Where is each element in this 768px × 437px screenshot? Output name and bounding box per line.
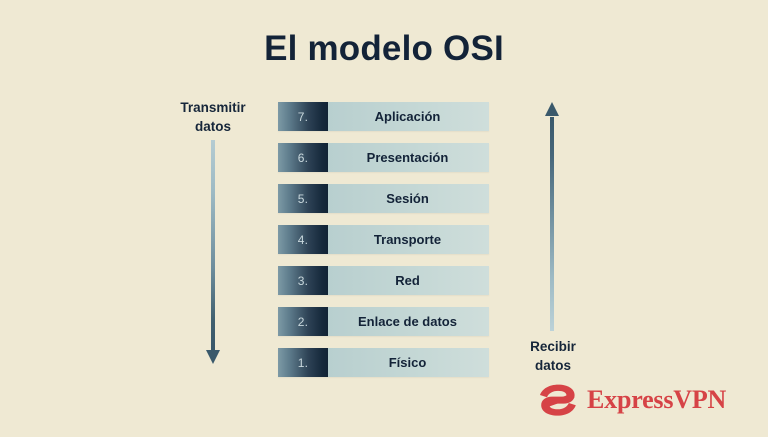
receive-label-line-1: Recibir (497, 337, 609, 356)
receive-arrow-head (545, 102, 559, 116)
expressvpn-e-logo-icon (538, 383, 578, 417)
osi-layer-name: Sesión (328, 184, 489, 213)
receive-label-line-2: datos (497, 356, 609, 375)
transmit-arrow-head (206, 350, 220, 364)
transmit-arrow-shaft (211, 140, 215, 352)
osi-layer-number: 2. (278, 307, 328, 336)
osi-layer-row: 1. Físico (278, 348, 489, 377)
osi-layer-name: Físico (328, 348, 489, 377)
osi-layer-number: 3. (278, 266, 328, 295)
expressvpn-logo: ExpressVPN (538, 383, 726, 417)
osi-layer-row: 6. Presentación (278, 143, 489, 172)
receive-arrow-up-icon (539, 101, 565, 331)
osi-layer-name: Red (328, 266, 489, 295)
osi-layer-number: 1. (278, 348, 328, 377)
receive-data-label: Recibir datos (497, 337, 609, 375)
osi-layer-name: Presentación (328, 143, 489, 172)
osi-layer-row: 7. Aplicación (278, 102, 489, 131)
osi-layer-row: 2. Enlace de datos (278, 307, 489, 336)
osi-layer-name: Enlace de datos (328, 307, 489, 336)
osi-layer-name: Aplicación (328, 102, 489, 131)
diagram-canvas: El modelo OSI Transmitir datos 7. Aplica… (0, 0, 768, 437)
osi-layer-number: 7. (278, 102, 328, 131)
osi-layer-row: 3. Red (278, 266, 489, 295)
osi-layer-row: 4. Transporte (278, 225, 489, 254)
osi-layer-number: 6. (278, 143, 328, 172)
expressvpn-wordmark: ExpressVPN (587, 387, 726, 413)
osi-layer-row: 5. Sesión (278, 184, 489, 213)
transmit-label-line-1: Transmitir (151, 98, 275, 117)
transmit-data-label: Transmitir datos (151, 98, 275, 136)
osi-layer-stack: 7. Aplicación 6. Presentación 5. Sesión … (278, 102, 489, 377)
page-title: El modelo OSI (0, 30, 768, 69)
osi-layer-name: Transporte (328, 225, 489, 254)
osi-layer-number: 5. (278, 184, 328, 213)
transmit-label-line-2: datos (151, 117, 275, 136)
transmit-arrow-down-icon (200, 140, 226, 368)
receive-arrow-shaft (550, 117, 554, 331)
osi-layer-number: 4. (278, 225, 328, 254)
